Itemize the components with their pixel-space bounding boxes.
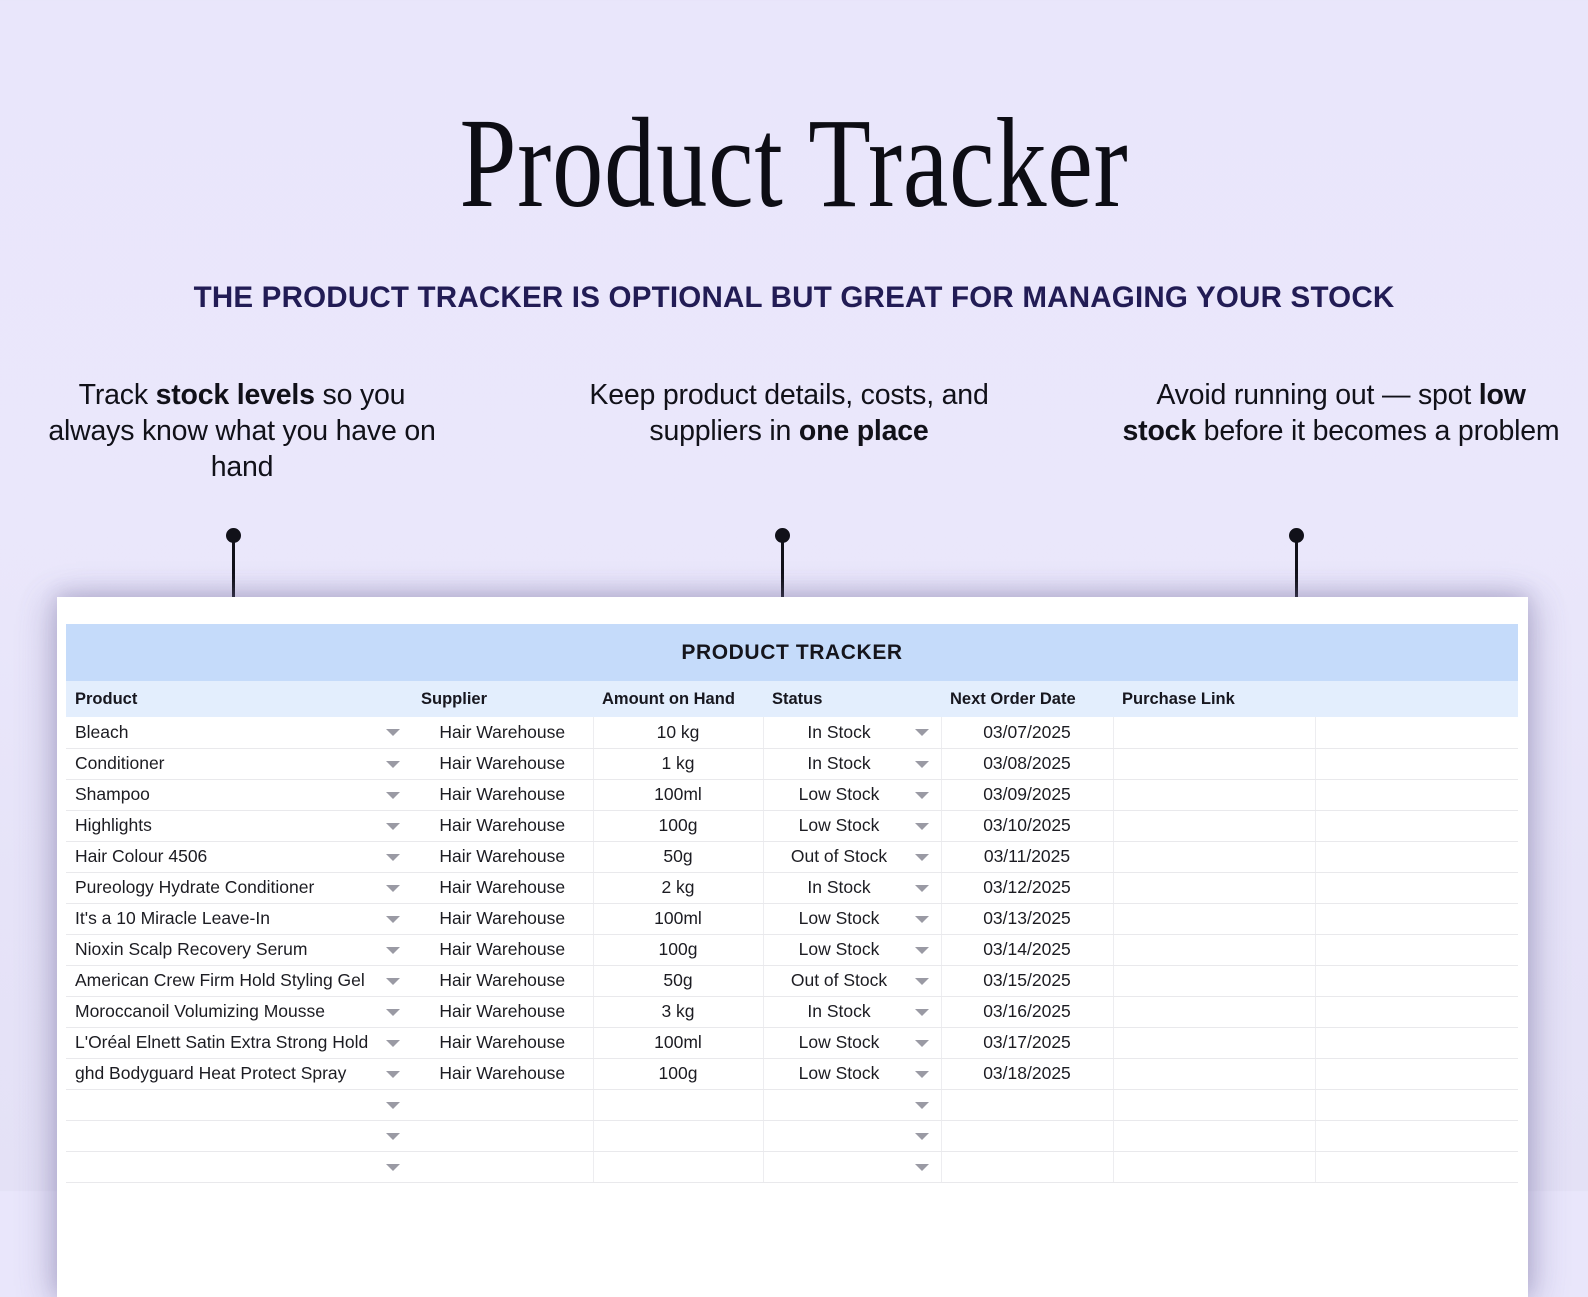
table-row[interactable]: It's a 10 Miracle Leave-InHair Warehouse… — [66, 903, 1518, 934]
column-header-product[interactable]: Product — [66, 681, 412, 717]
cell-status[interactable]: In Stock — [763, 748, 941, 779]
cell-purchase-link[interactable] — [1113, 810, 1315, 841]
cell-product[interactable] — [66, 1089, 412, 1120]
cell-product-text: ghd Bodyguard Heat Protect Spray — [75, 1063, 346, 1083]
product-tracker-table: PRODUCT TRACKERProductSupplierAmount on … — [66, 624, 1518, 1183]
cell-product[interactable]: Shampoo — [66, 779, 412, 810]
cell-purchase-link[interactable] — [1113, 934, 1315, 965]
cell-extra[interactable] — [1315, 872, 1518, 903]
table-row[interactable]: American Crew Firm Hold Styling GelHair … — [66, 965, 1518, 996]
cell-amount-on-hand[interactable]: 100ml — [593, 779, 763, 810]
cell-amount-on-hand-text: 50g — [663, 970, 692, 990]
cell-next-order-date[interactable]: 03/08/2025 — [941, 748, 1113, 779]
chevron-down-icon[interactable] — [915, 1009, 929, 1016]
table-banner-title: PRODUCT TRACKER — [66, 624, 1518, 681]
table-row[interactable]: Moroccanoil Volumizing MousseHair Wareho… — [66, 996, 1518, 1027]
cell-supplier[interactable]: Hair Warehouse — [412, 779, 593, 810]
cell-amount-on-hand[interactable] — [593, 1120, 763, 1151]
cell-supplier[interactable]: Hair Warehouse — [412, 934, 593, 965]
cell-product-text: American Crew Firm Hold Styling Gel — [75, 970, 365, 990]
cell-status-text: Out of Stock — [791, 846, 887, 866]
column-header-extra[interactable] — [1315, 681, 1518, 717]
cell-extra[interactable] — [1315, 934, 1518, 965]
cell-status[interactable]: In Stock — [763, 996, 941, 1027]
chevron-down-icon[interactable] — [386, 854, 400, 861]
cell-purchase-link[interactable] — [1113, 1058, 1315, 1089]
cell-product[interactable]: Highlights — [66, 810, 412, 841]
chevron-down-icon[interactable] — [386, 916, 400, 923]
cell-status-text: Out of Stock — [791, 970, 887, 990]
cell-next-order-date[interactable]: 03/12/2025 — [941, 872, 1113, 903]
cell-status[interactable]: Out of Stock — [763, 965, 941, 996]
cell-product[interactable]: It's a 10 Miracle Leave-In — [66, 903, 412, 934]
cell-product[interactable]: Moroccanoil Volumizing Mousse — [66, 996, 412, 1027]
cell-product-text: L'Oréal Elnett Satin Extra Strong Hold — [75, 1032, 368, 1052]
cell-extra[interactable] — [1315, 810, 1518, 841]
cell-status[interactable]: In Stock — [763, 717, 941, 748]
cell-status[interactable]: Low Stock — [763, 1027, 941, 1058]
cell-product[interactable]: Hair Colour 4506 — [66, 841, 412, 872]
cell-extra[interactable] — [1315, 996, 1518, 1027]
chevron-down-icon[interactable] — [915, 823, 929, 830]
cell-supplier-text: Hair Warehouse — [439, 722, 565, 742]
cell-status[interactable]: Out of Stock — [763, 841, 941, 872]
table-row[interactable]: BleachHair Warehouse10 kgIn Stock03/07/2… — [66, 717, 1518, 748]
cell-product[interactable]: Conditioner — [66, 748, 412, 779]
chevron-down-icon[interactable] — [386, 1164, 400, 1171]
cell-extra[interactable] — [1315, 1120, 1518, 1151]
cell-supplier-text: Hair Warehouse — [439, 815, 565, 835]
cell-amount-on-hand[interactable]: 3 kg — [593, 996, 763, 1027]
cell-amount-on-hand[interactable]: 100ml — [593, 903, 763, 934]
chevron-down-icon[interactable] — [915, 792, 929, 799]
cell-status[interactable] — [763, 1120, 941, 1151]
column-header-next-order-date[interactable]: Next Order Date — [941, 681, 1113, 717]
cell-product[interactable] — [66, 1120, 412, 1151]
cell-status-text: In Stock — [807, 1001, 870, 1021]
cell-amount-on-hand-text: 100g — [659, 1063, 698, 1083]
chevron-down-icon[interactable] — [915, 854, 929, 861]
cell-next-order-date[interactable] — [941, 1089, 1113, 1120]
cell-supplier-text: Hair Warehouse — [439, 939, 565, 959]
cell-next-order-date-text: 03/10/2025 — [983, 815, 1071, 835]
cell-next-order-date[interactable]: 03/10/2025 — [941, 810, 1113, 841]
cell-next-order-date-text: 03/12/2025 — [983, 877, 1071, 897]
cell-purchase-link[interactable] — [1113, 1151, 1315, 1182]
cell-supplier[interactable]: Hair Warehouse — [412, 841, 593, 872]
cell-product-text: It's a 10 Miracle Leave-In — [75, 908, 270, 928]
page-subtitle: THE PRODUCT TRACKER IS OPTIONAL BUT GREA… — [12, 281, 1576, 315]
cell-extra[interactable] — [1315, 1058, 1518, 1089]
spreadsheet-viewport[interactable]: PRODUCT TRACKERProductSupplierAmount on … — [66, 624, 1518, 1297]
chevron-down-icon[interactable] — [915, 1102, 929, 1109]
cell-status-text: In Stock — [807, 877, 870, 897]
cell-amount-on-hand-text: 10 kg — [657, 722, 700, 742]
chevron-down-icon[interactable] — [386, 1102, 400, 1109]
cell-status[interactable] — [763, 1089, 941, 1120]
cell-product[interactable]: American Crew Firm Hold Styling Gel — [66, 965, 412, 996]
table-row[interactable]: ShampooHair Warehouse100mlLow Stock03/09… — [66, 779, 1518, 810]
cell-supplier[interactable]: Hair Warehouse — [412, 1058, 593, 1089]
cell-next-order-date[interactable] — [941, 1120, 1113, 1151]
feature-item-stock-levels: Track stock levels so you always know wh… — [22, 378, 462, 486]
table-row[interactable]: Pureology Hydrate ConditionerHair Wareho… — [66, 872, 1518, 903]
column-header-status[interactable]: Status — [763, 681, 941, 717]
feature-emphasis: stock levels — [156, 379, 315, 411]
cell-amount-on-hand[interactable]: 100g — [593, 810, 763, 841]
feature-text: Track — [79, 379, 156, 411]
cell-extra[interactable] — [1315, 779, 1518, 810]
cell-next-order-date-text: 03/08/2025 — [983, 753, 1071, 773]
cell-status-text: In Stock — [807, 722, 870, 742]
table-row[interactable] — [66, 1089, 1518, 1120]
feature-item-low-stock: Avoid running out — spot low stock befor… — [1116, 378, 1566, 450]
cell-next-order-date[interactable]: 03/18/2025 — [941, 1058, 1113, 1089]
chevron-down-icon[interactable] — [386, 978, 400, 985]
cell-next-order-date-text: 03/07/2025 — [983, 722, 1071, 742]
cell-next-order-date[interactable]: 03/07/2025 — [941, 717, 1113, 748]
cell-extra[interactable] — [1315, 965, 1518, 996]
cell-status-text: Low Stock — [799, 1032, 880, 1052]
chevron-down-icon[interactable] — [915, 1133, 929, 1140]
cell-product-text: Pureology Hydrate Conditioner — [75, 877, 314, 897]
cell-amount-on-hand[interactable]: 2 kg — [593, 872, 763, 903]
cell-next-order-date-text: 03/09/2025 — [983, 784, 1071, 804]
feature-text: Keep product details, costs, and supplie… — [589, 379, 988, 447]
cell-next-order-date[interactable]: 03/15/2025 — [941, 965, 1113, 996]
cell-supplier[interactable]: Hair Warehouse — [412, 996, 593, 1027]
cell-purchase-link[interactable] — [1113, 996, 1315, 1027]
callout-dot-top — [226, 528, 241, 543]
cell-purchase-link[interactable] — [1113, 717, 1315, 748]
chevron-down-icon[interactable] — [386, 1133, 400, 1140]
cell-status[interactable]: Low Stock — [763, 779, 941, 810]
cell-extra[interactable] — [1315, 1151, 1518, 1182]
cell-purchase-link[interactable] — [1113, 1027, 1315, 1058]
cell-amount-on-hand[interactable]: 100ml — [593, 1027, 763, 1058]
chevron-down-icon[interactable] — [915, 947, 929, 954]
cell-amount-on-hand[interactable]: 100g — [593, 934, 763, 965]
cell-next-order-date-text: 03/15/2025 — [983, 970, 1071, 990]
chevron-down-icon[interactable] — [915, 761, 929, 768]
table-row[interactable]: ghd Bodyguard Heat Protect SprayHair War… — [66, 1058, 1518, 1089]
cell-supplier[interactable]: Hair Warehouse — [412, 1027, 593, 1058]
cell-product[interactable]: L'Oréal Elnett Satin Extra Strong Hold — [66, 1027, 412, 1058]
cell-product-text: Shampoo — [75, 784, 150, 804]
cell-status-text: In Stock — [807, 753, 870, 773]
callout-dot-top — [1289, 528, 1304, 543]
cell-amount-on-hand[interactable]: 10 kg — [593, 717, 763, 748]
cell-purchase-link[interactable] — [1113, 965, 1315, 996]
cell-supplier[interactable]: Hair Warehouse — [412, 717, 593, 748]
cell-supplier-text: Hair Warehouse — [439, 784, 565, 804]
cell-next-order-date-text: 03/14/2025 — [983, 939, 1071, 959]
cell-status[interactable]: Low Stock — [763, 1058, 941, 1089]
cell-purchase-link[interactable] — [1113, 1120, 1315, 1151]
table-row[interactable]: HighlightsHair Warehouse100gLow Stock03/… — [66, 810, 1518, 841]
cell-next-order-date-text: 03/18/2025 — [983, 1063, 1071, 1083]
feature-text: before it becomes a problem — [1196, 415, 1560, 447]
chevron-down-icon[interactable] — [915, 1040, 929, 1047]
cell-amount-on-hand[interactable] — [593, 1089, 763, 1120]
column-header-amount-on-hand[interactable]: Amount on Hand — [593, 681, 763, 717]
feature-emphasis: one place — [799, 415, 929, 447]
cell-purchase-link[interactable] — [1113, 872, 1315, 903]
cell-product[interactable]: Bleach — [66, 717, 412, 748]
cell-supplier-text: Hair Warehouse — [439, 1032, 565, 1052]
spreadsheet-card: PRODUCT TRACKERProductSupplierAmount on … — [57, 597, 1528, 1297]
cell-supplier-text: Hair Warehouse — [439, 846, 565, 866]
chevron-down-icon[interactable] — [386, 792, 400, 799]
cell-purchase-link[interactable] — [1113, 1089, 1315, 1120]
cell-product[interactable] — [66, 1151, 412, 1182]
cell-amount-on-hand-text: 100ml — [654, 1032, 702, 1052]
cell-next-order-date[interactable]: 03/14/2025 — [941, 934, 1113, 965]
cell-purchase-link[interactable] — [1113, 841, 1315, 872]
cell-amount-on-hand[interactable]: 50g — [593, 841, 763, 872]
cell-amount-on-hand[interactable]: 1 kg — [593, 748, 763, 779]
feature-text: Avoid running out — spot — [1156, 379, 1478, 411]
cell-supplier[interactable]: Hair Warehouse — [412, 965, 593, 996]
cell-product-text: Hair Colour 4506 — [75, 846, 207, 866]
cell-amount-on-hand[interactable]: 100g — [593, 1058, 763, 1089]
chevron-down-icon[interactable] — [915, 978, 929, 985]
cell-status[interactable] — [763, 1151, 941, 1182]
chevron-down-icon[interactable] — [915, 1071, 929, 1078]
chevron-down-icon[interactable] — [915, 885, 929, 892]
cell-status-text: Low Stock — [799, 939, 880, 959]
cell-purchase-link[interactable] — [1113, 903, 1315, 934]
cell-supplier-text: Hair Warehouse — [439, 877, 565, 897]
cell-amount-on-hand-text: 50g — [663, 846, 692, 866]
cell-next-order-date-text: 03/16/2025 — [983, 1001, 1071, 1021]
cell-next-order-date[interactable] — [941, 1151, 1113, 1182]
table-row[interactable]: Hair Colour 4506Hair Warehouse50gOut of … — [66, 841, 1518, 872]
cell-amount-on-hand-text: 2 kg — [661, 877, 694, 897]
table-row[interactable]: Nioxin Scalp Recovery SerumHair Warehous… — [66, 934, 1518, 965]
cell-supplier-text: Hair Warehouse — [439, 970, 565, 990]
cell-supplier-text: Hair Warehouse — [439, 908, 565, 928]
chevron-down-icon[interactable] — [386, 823, 400, 830]
cell-extra[interactable] — [1315, 903, 1518, 934]
feature-item-one-place: Keep product details, costs, and supplie… — [574, 378, 1004, 450]
page-title: Product Tracker — [159, 96, 1429, 230]
cell-supplier[interactable]: Hair Warehouse — [412, 903, 593, 934]
cell-amount-on-hand-text: 1 kg — [661, 753, 694, 773]
cell-supplier[interactable] — [412, 1151, 593, 1182]
cell-status[interactable]: In Stock — [763, 872, 941, 903]
cell-supplier[interactable]: Hair Warehouse — [412, 748, 593, 779]
chevron-down-icon[interactable] — [386, 729, 400, 736]
cell-extra[interactable] — [1315, 1089, 1518, 1120]
chevron-down-icon[interactable] — [915, 1164, 929, 1171]
cell-amount-on-hand[interactable]: 50g — [593, 965, 763, 996]
chevron-down-icon[interactable] — [386, 1040, 400, 1047]
cell-amount-on-hand-text: 100ml — [654, 908, 702, 928]
cell-amount-on-hand-text: 100g — [659, 815, 698, 835]
cell-status[interactable]: Low Stock — [763, 810, 941, 841]
table-row[interactable]: ConditionerHair Warehouse1 kgIn Stock03/… — [66, 748, 1518, 779]
cell-product[interactable]: Pureology Hydrate Conditioner — [66, 872, 412, 903]
cell-next-order-date[interactable]: 03/16/2025 — [941, 996, 1113, 1027]
cell-purchase-link[interactable] — [1113, 748, 1315, 779]
cell-supplier[interactable] — [412, 1120, 593, 1151]
cell-product-text: Bleach — [75, 722, 129, 742]
cell-product-text: Highlights — [75, 815, 152, 835]
cell-status[interactable]: Low Stock — [763, 903, 941, 934]
table-header-row: ProductSupplierAmount on HandStatusNext … — [66, 681, 1518, 717]
cell-extra[interactable] — [1315, 748, 1518, 779]
cell-extra[interactable] — [1315, 717, 1518, 748]
chevron-down-icon[interactable] — [386, 1071, 400, 1078]
cell-next-order-date-text: 03/11/2025 — [984, 846, 1070, 866]
chevron-down-icon[interactable] — [386, 761, 400, 768]
cell-extra[interactable] — [1315, 1027, 1518, 1058]
feature-list: Track stock levels so you always know wh… — [22, 378, 1566, 486]
cell-next-order-date[interactable]: 03/17/2025 — [941, 1027, 1113, 1058]
cell-next-order-date[interactable]: 03/09/2025 — [941, 779, 1113, 810]
cell-next-order-date[interactable]: 03/11/2025 — [941, 841, 1113, 872]
cell-supplier[interactable]: Hair Warehouse — [412, 810, 593, 841]
cell-supplier-text: Hair Warehouse — [439, 753, 565, 773]
cell-supplier-text: Hair Warehouse — [439, 1063, 565, 1083]
cell-status-text: Low Stock — [799, 784, 880, 804]
cell-amount-on-hand-text: 100ml — [654, 784, 702, 804]
cell-status-text: Low Stock — [799, 1063, 880, 1083]
table-row[interactable] — [66, 1120, 1518, 1151]
cell-product-text: Conditioner — [75, 753, 165, 773]
cell-status-text: Low Stock — [799, 908, 880, 928]
cell-status[interactable]: Low Stock — [763, 934, 941, 965]
cell-product[interactable]: ghd Bodyguard Heat Protect Spray — [66, 1058, 412, 1089]
chevron-down-icon[interactable] — [386, 947, 400, 954]
cell-amount-on-hand-text: 100g — [659, 939, 698, 959]
cell-supplier[interactable] — [412, 1089, 593, 1120]
cell-status-text: Low Stock — [799, 815, 880, 835]
table-banner-row: PRODUCT TRACKER — [66, 624, 1518, 681]
cell-next-order-date-text: 03/13/2025 — [983, 908, 1071, 928]
table-row[interactable]: L'Oréal Elnett Satin Extra Strong HoldHa… — [66, 1027, 1518, 1058]
column-header-supplier[interactable]: Supplier — [412, 681, 593, 717]
chevron-down-icon[interactable] — [915, 916, 929, 923]
cell-next-order-date-text: 03/17/2025 — [983, 1032, 1071, 1052]
callout-dot-top — [775, 528, 790, 543]
cell-extra[interactable] — [1315, 841, 1518, 872]
cell-product-text: Nioxin Scalp Recovery Serum — [75, 939, 307, 959]
column-header-purchase-link[interactable]: Purchase Link — [1113, 681, 1315, 717]
cell-purchase-link[interactable] — [1113, 779, 1315, 810]
chevron-down-icon[interactable] — [386, 1009, 400, 1016]
chevron-down-icon[interactable] — [915, 729, 929, 736]
chevron-down-icon[interactable] — [386, 885, 400, 892]
cell-product-text: Moroccanoil Volumizing Mousse — [75, 1001, 325, 1021]
table-row[interactable] — [66, 1151, 1518, 1182]
cell-product[interactable]: Nioxin Scalp Recovery Serum — [66, 934, 412, 965]
cell-amount-on-hand[interactable] — [593, 1151, 763, 1182]
cell-next-order-date[interactable]: 03/13/2025 — [941, 903, 1113, 934]
cell-supplier-text: Hair Warehouse — [439, 1001, 565, 1021]
cell-amount-on-hand-text: 3 kg — [661, 1001, 694, 1021]
cell-supplier[interactable]: Hair Warehouse — [412, 872, 593, 903]
